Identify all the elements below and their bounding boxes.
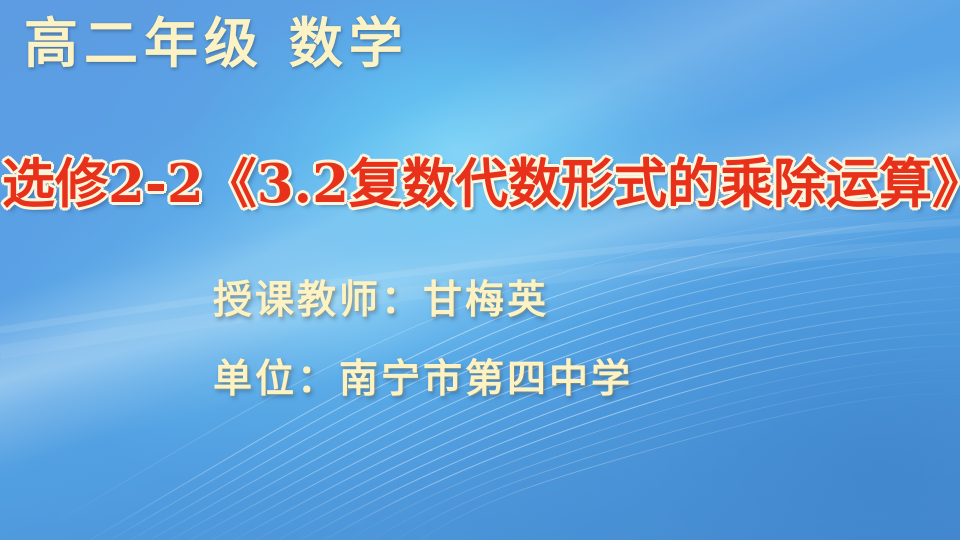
grade-subject-heading: 高二年级 数学 [24, 16, 409, 70]
background-gradient [0, 0, 960, 540]
background-right-shade [0, 0, 960, 540]
decorative-arc-lines [0, 0, 960, 540]
background-center-glow [0, 0, 960, 540]
teacher-label: 授课教师：甘梅英 [213, 281, 549, 320]
background-swoosh-band [0, 0, 960, 540]
lesson-title-slide: 高二年级 数学 选修2-2《3.2复数代数形式的乘除运算》 授课教师：甘梅英 单… [0, 0, 960, 540]
background-swoosh-band-secondary [0, 0, 960, 540]
background-bottom-shade [0, 0, 960, 540]
lesson-title: 选修2-2《3.2复数代数形式的乘除运算》 [2, 158, 960, 211]
background-mid-glow [0, 0, 960, 540]
school-unit-label: 单位：南宁市第四中学 [213, 360, 633, 399]
